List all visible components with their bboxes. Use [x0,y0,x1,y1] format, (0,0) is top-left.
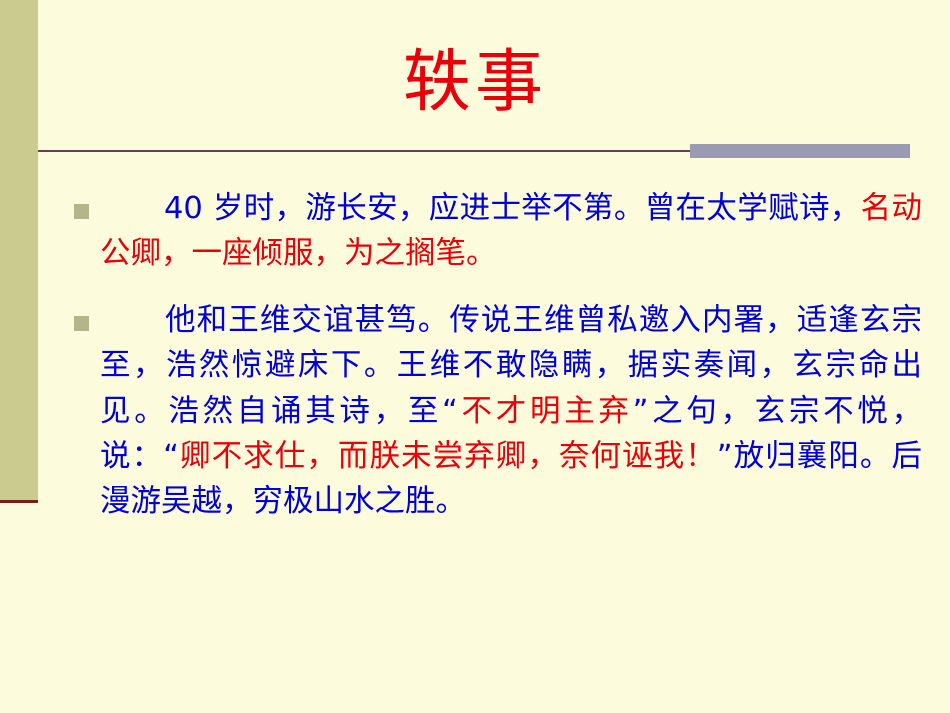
square-bullet-icon [74,204,89,219]
slide-title: 轶事 [0,46,950,121]
left-horizontal-rule [0,500,38,503]
square-bullet-icon [74,316,89,331]
slide-body: 40 岁时，游长安，应进士举不第。曾在太学赋诗，名动公卿，一座倾服，为之搁笔。 … [62,186,922,530]
bullet-paragraph-1: 40 岁时，游长安，应进士举不第。曾在太学赋诗，名动公卿，一座倾服，为之搁笔。 [62,186,922,276]
left-band-lower [0,500,38,713]
bullet-2-segment-red-1: 不才明主弃 [458,394,633,429]
bullet-1-segment-blue: 40 岁时，游长安，应进士举不第。曾在太学赋诗， [164,191,861,226]
bullet-paragraph-2: 他和王维交谊甚笃。传说王维曾私邀入内署，适逢玄宗至，浩然惊避床下。王维不敢隐瞒，… [62,298,922,524]
bullet-2-segment-red-2: 卿不求仕，而朕未尝弃卿，奈何诬我！ [179,439,717,474]
title-divider-block [690,144,910,158]
bullet-item-2: 他和王维交谊甚笃。传说王维曾私邀入内署，适逢玄宗至，浩然惊避床下。王维不敢隐瞒，… [62,298,922,524]
bullet-item-1: 40 岁时，游长安，应进士举不第。曾在太学赋诗，名动公卿，一座倾服，为之搁笔。 [62,186,922,276]
